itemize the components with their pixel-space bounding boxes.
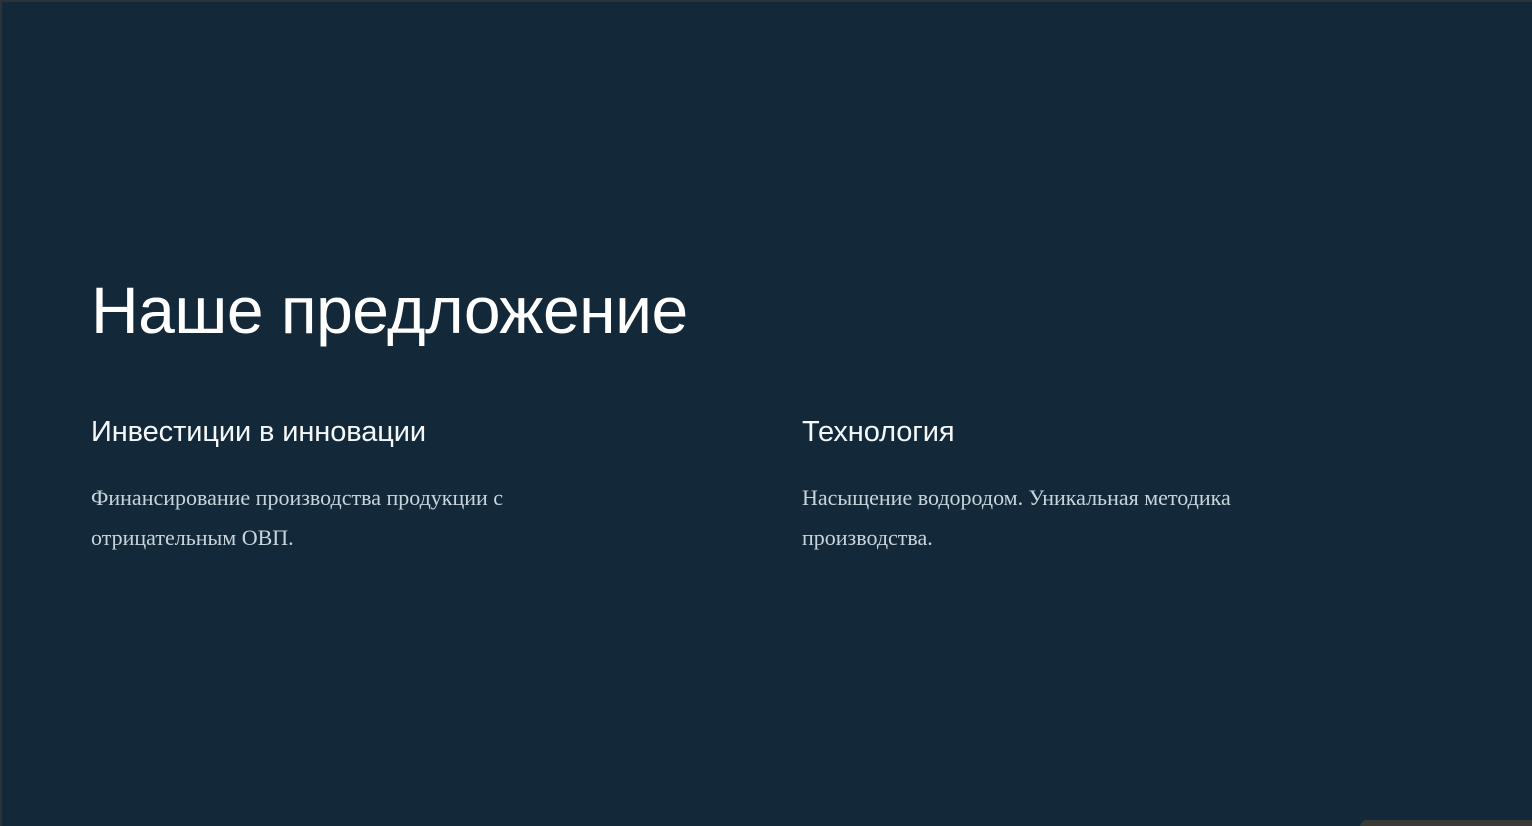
bottom-right-strip <box>1360 820 1532 826</box>
column-heading-investments: Инвестиции в инновации <box>91 416 651 449</box>
content-column-investments: Инвестиции в инновации Финансирование пр… <box>91 416 651 558</box>
column-heading-technology: Технология <box>802 416 1362 449</box>
column-body-technology: Насыщение водородом. Уникальная методика… <box>802 449 1332 558</box>
content-column-technology: Технология Насыщение водородом. Уникальн… <box>802 416 1362 558</box>
column-body-investments: Финансирование производства продукции с … <box>91 449 621 558</box>
content-columns: Инвестиции в инновации Финансирование пр… <box>2 416 1532 616</box>
page-title: Наше предложение <box>91 277 688 343</box>
presentation-slide: Наше предложение Инвестиции в инновации … <box>0 0 1532 826</box>
